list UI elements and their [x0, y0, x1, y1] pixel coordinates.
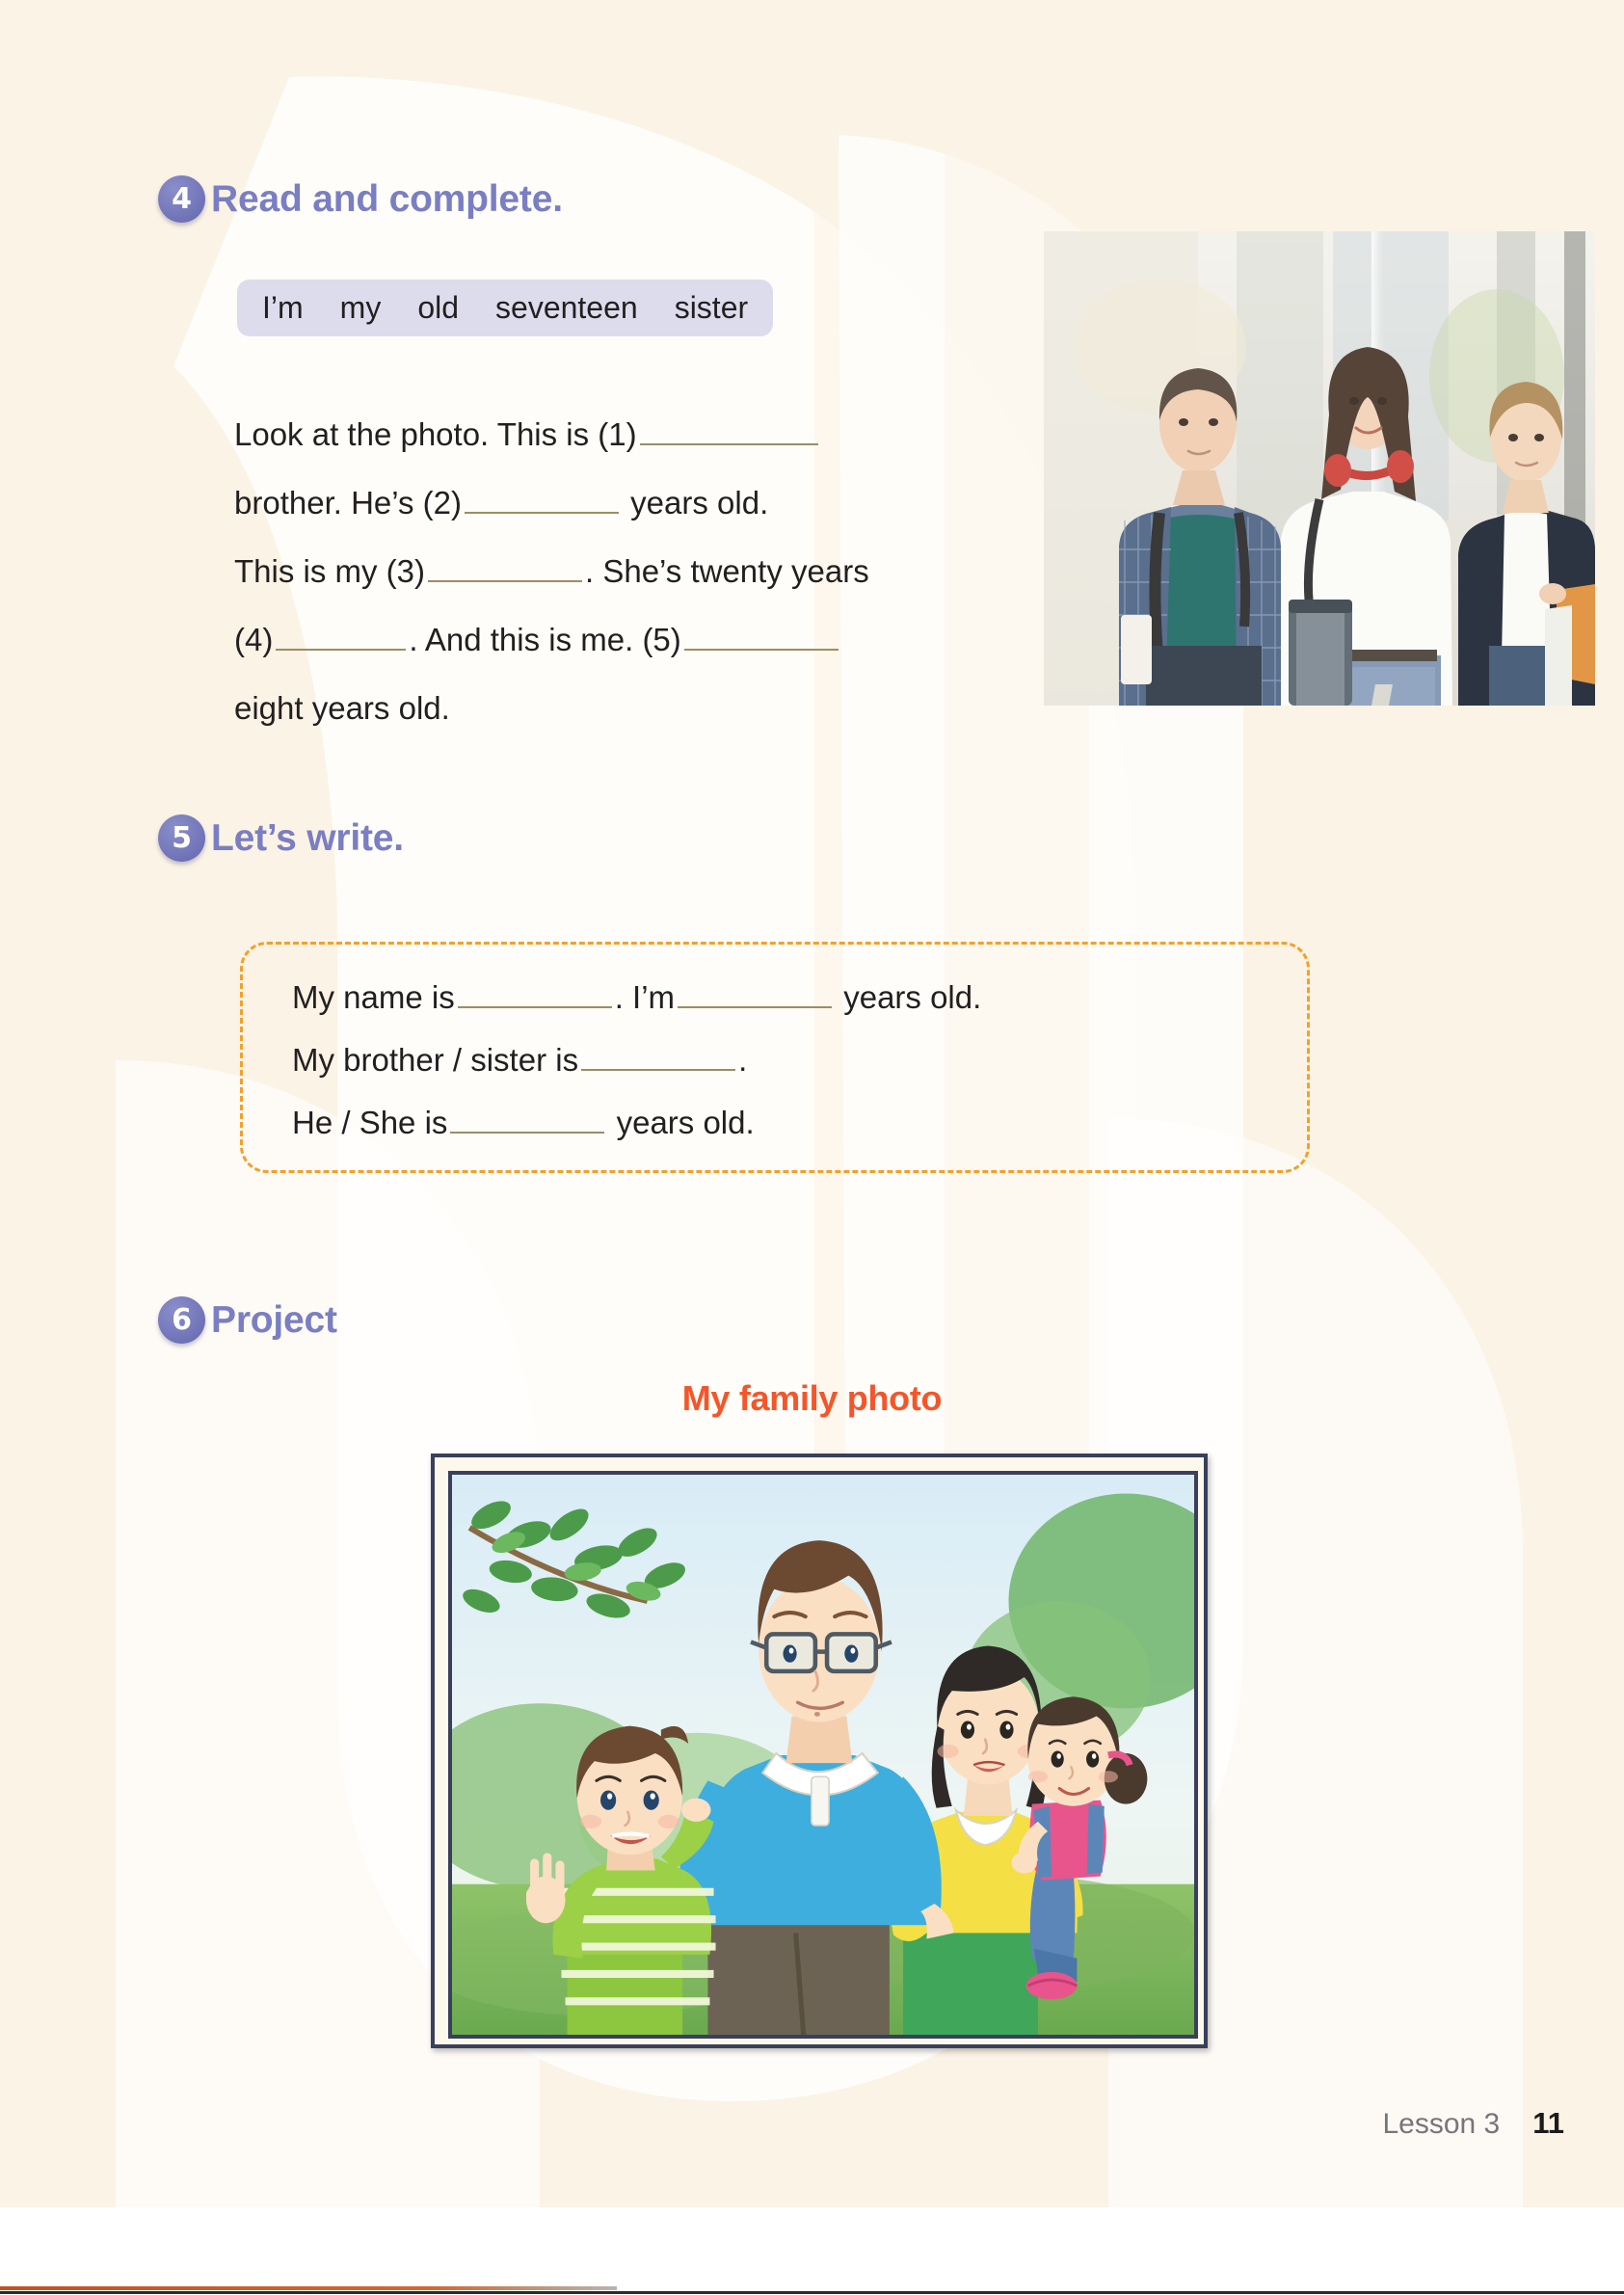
gap-fill-line-3: This is my (3). She’s twenty years: [234, 537, 1034, 605]
write-blank-sibling-name[interactable]: [581, 1038, 735, 1071]
blank-2[interactable]: [465, 481, 619, 514]
exercise-4-heading: 4 Read and complete.: [158, 175, 563, 223]
exercise-number-badge-4: 4: [158, 175, 205, 223]
write-text-3b: years old.: [617, 1105, 755, 1140]
write-line-2: My brother / sister is.: [292, 1038, 747, 1079]
write-text-1a: My name is: [292, 979, 455, 1015]
gap-fill-text-5a: eight years old.: [234, 690, 450, 726]
word-bank-item-4[interactable]: sister: [675, 290, 748, 326]
bottom-rule-orange: [0, 2286, 617, 2290]
gap-fill-text-4b: . And this is me. (5): [409, 622, 680, 657]
exercise-5-title: Let’s write.: [211, 817, 404, 860]
exercise-number-badge-5: 5: [158, 814, 205, 862]
blank-3[interactable]: [428, 549, 582, 582]
gap-fill-text-1a: Look at the photo. This is (1): [234, 416, 637, 452]
exercise-number-badge-6: 6: [158, 1296, 205, 1344]
write-text-2a: My brother / sister is: [292, 1042, 578, 1078]
page-footer: Lesson 3 11: [1382, 2106, 1564, 2141]
gap-fill-line-5: eight years old.: [234, 674, 1034, 742]
family-photo-frame: [431, 1454, 1208, 2048]
write-line-3: He / She is years old.: [292, 1101, 755, 1141]
gap-fill-line-2: brother. He’s (2) years old.: [234, 468, 1034, 537]
word-bank-item-2[interactable]: old: [417, 290, 459, 326]
gap-fill-paragraph: Look at the photo. This is (1) brother. …: [234, 400, 1034, 742]
lesson-label: Lesson 3: [1382, 2108, 1500, 2141]
gap-fill-text-4a: (4): [234, 622, 273, 657]
gap-fill-text-2a: brother. He’s (2): [234, 485, 462, 520]
bottom-rule-dark: [0, 2291, 1624, 2294]
word-bank-item-3[interactable]: seventeen: [495, 290, 638, 326]
gap-fill-text-3b: . She’s twenty years: [585, 553, 869, 589]
gap-fill-line-1: Look at the photo. This is (1): [234, 400, 1034, 468]
exercise-6-heading: 6 Project: [158, 1296, 337, 1344]
word-bank-item-1[interactable]: my: [340, 290, 382, 326]
page-number: 11: [1532, 2106, 1564, 2141]
teenagers-photo: [1044, 231, 1595, 706]
exercise-4-title: Read and complete.: [211, 178, 563, 221]
write-text-3a: He / She is: [292, 1105, 447, 1140]
family-illustration: [448, 1471, 1198, 2039]
write-blank-sibling-age[interactable]: [450, 1101, 604, 1134]
gap-fill-line-4: (4). And this is me. (5): [234, 605, 1034, 674]
word-bank: I’m my old seventeen sister: [237, 280, 773, 336]
word-bank-item-0[interactable]: I’m: [262, 290, 304, 326]
write-blank-name[interactable]: [458, 975, 612, 1008]
gap-fill-text-3a: This is my (3): [234, 553, 425, 589]
exercise-6-title: Project: [211, 1299, 337, 1342]
blank-4[interactable]: [276, 618, 406, 651]
exercise-5-heading: 5 Let’s write.: [158, 814, 404, 862]
blank-1[interactable]: [640, 413, 818, 445]
write-line-1: My name is. I’m years old.: [292, 975, 981, 1016]
write-text-1c: years old.: [843, 979, 981, 1015]
write-blank-age[interactable]: [678, 975, 832, 1008]
blank-5[interactable]: [684, 618, 839, 651]
writing-practice-box: My name is. I’m years old. My brother / …: [240, 942, 1310, 1173]
gap-fill-text-2b: years old.: [630, 485, 768, 520]
write-text-2b: .: [738, 1042, 747, 1078]
project-photo-title: My family photo: [0, 1378, 1624, 1419]
write-text-1b: . I’m: [615, 979, 675, 1015]
